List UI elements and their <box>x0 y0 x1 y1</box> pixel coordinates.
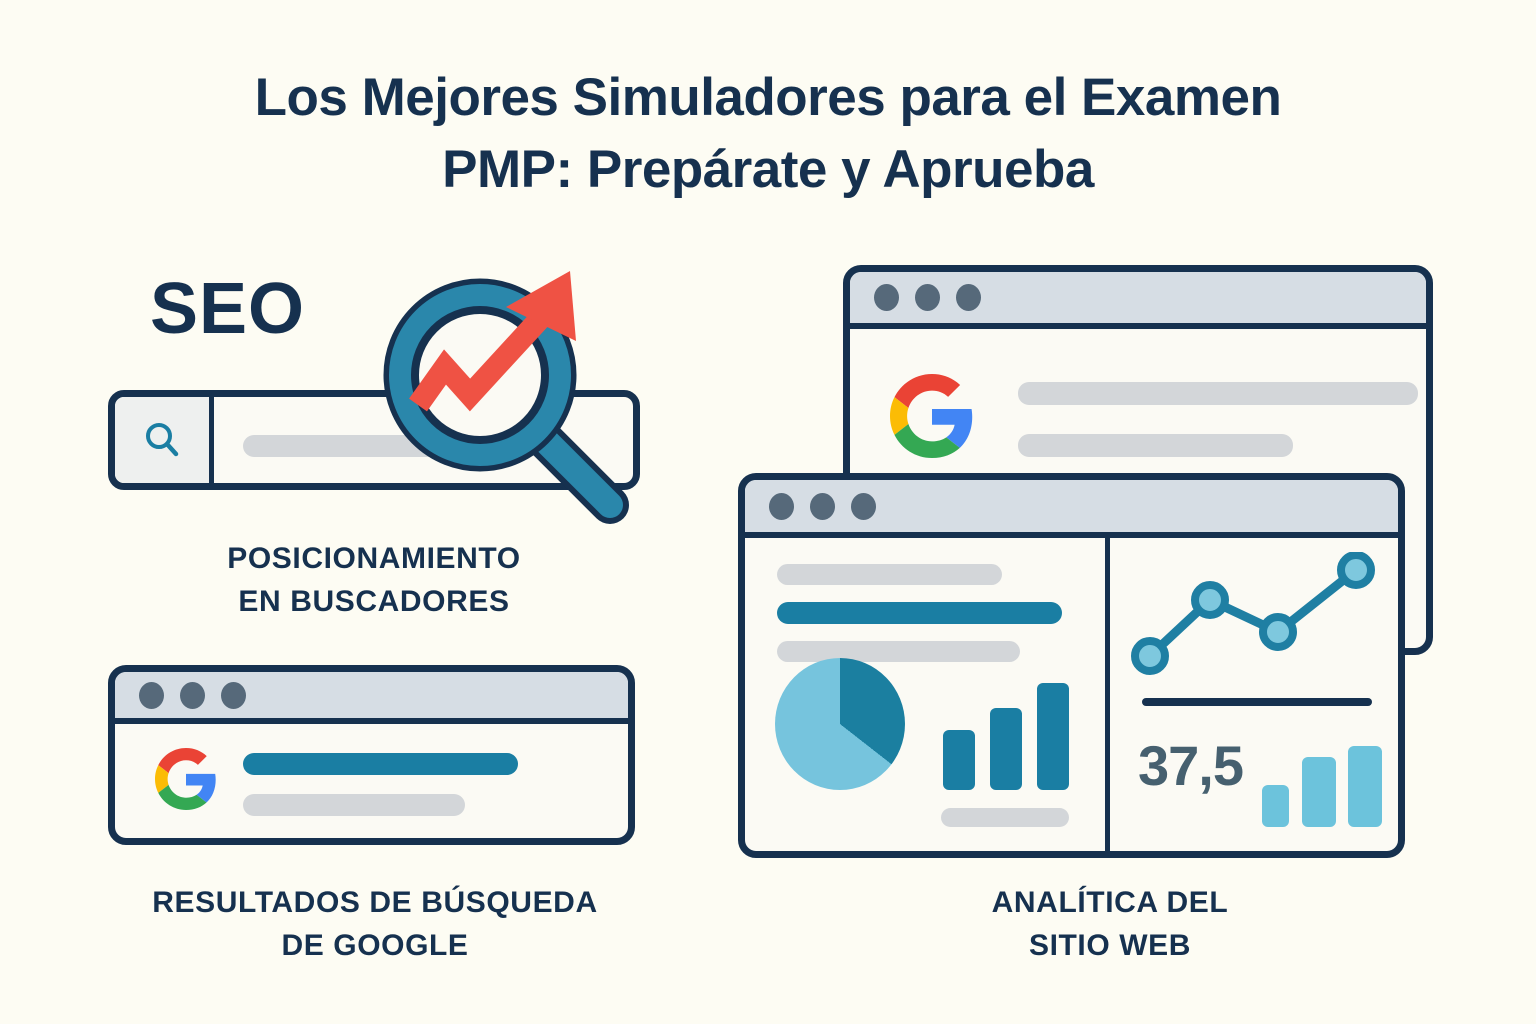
dashboard-right-pane: 37,5 <box>1110 538 1398 851</box>
analytics-caption: ANALÍTICA DEL SITIO WEB <box>840 882 1380 967</box>
search-icon <box>140 418 184 462</box>
search-icon-cell[interactable] <box>115 397 214 483</box>
result-title-bar <box>1018 382 1418 405</box>
line-chart-point-4 <box>1341 555 1371 585</box>
seo-caption: POSICIONAMIENTO EN BUSCADORES <box>108 538 640 623</box>
mini-bar-3 <box>1348 746 1382 827</box>
close-dot-icon[interactable] <box>769 493 794 520</box>
dashboard-left-pane <box>745 538 1110 851</box>
line-chart <box>1128 552 1405 682</box>
seo-caption-line-2: EN BUSCADORES <box>108 581 640 624</box>
line-chart-point-2 <box>1195 585 1225 615</box>
analytics-caption-line-2: SITIO WEB <box>840 925 1380 968</box>
google-logo-icon <box>155 748 217 810</box>
bar-chart-bar-2 <box>990 708 1022 790</box>
metric-value: 37,5 <box>1138 733 1243 798</box>
text-skeleton-2 <box>777 641 1020 662</box>
mini-bar-2 <box>1302 757 1336 827</box>
line-chart-point-3 <box>1263 617 1293 647</box>
minimize-dot-icon[interactable] <box>810 493 835 520</box>
result-snippet-bar <box>243 794 465 816</box>
pie-chart <box>775 658 905 790</box>
maximize-dot-icon[interactable] <box>956 284 981 311</box>
line-chart-point-1 <box>1135 641 1165 671</box>
title-line-1: Los Mejores Simuladores para el Examen <box>0 62 1536 134</box>
google-caption: RESULTADOS DE BÚSQUEDA DE GOOGLE <box>85 882 665 967</box>
maximize-dot-icon[interactable] <box>221 682 246 709</box>
maximize-dot-icon[interactable] <box>851 493 876 520</box>
analytics-dashboard-window[interactable]: 37,5 <box>738 473 1405 858</box>
page-title: Los Mejores Simuladores para el Examen P… <box>0 62 1536 205</box>
title-line-2: PMP: Prepárate y Aprueba <box>0 134 1536 206</box>
magnifier-growth-icon <box>360 255 650 545</box>
analytics-caption-line-1: ANALÍTICA DEL <box>840 882 1380 925</box>
minimize-dot-icon[interactable] <box>915 284 940 311</box>
window-title-bar[interactable] <box>745 480 1398 538</box>
result-snippet-bar <box>1018 434 1293 457</box>
seo-wordmark: SEO <box>150 268 305 350</box>
window-title-bar[interactable] <box>115 672 628 724</box>
dashboard-split: 37,5 <box>745 538 1398 851</box>
text-skeleton-1 <box>777 564 1002 585</box>
poster-canvas: Los Mejores Simuladores para el Examen P… <box>0 0 1536 1024</box>
magnifier-handle <box>545 440 610 505</box>
close-dot-icon[interactable] <box>874 284 899 311</box>
minimize-dot-icon[interactable] <box>180 682 205 709</box>
google-logo-icon <box>890 374 974 458</box>
google-caption-line-1: RESULTADOS DE BÚSQUEDA <box>85 882 665 925</box>
result-title-bar <box>243 753 518 775</box>
bar-chart-bar-1 <box>943 730 975 790</box>
mini-bar-1 <box>1262 785 1289 827</box>
seo-caption-line-1: POSICIONAMIENTO <box>108 538 640 581</box>
google-results-window[interactable] <box>108 665 635 845</box>
close-dot-icon[interactable] <box>139 682 164 709</box>
text-skeleton-highlight <box>777 602 1062 624</box>
google-caption-line-2: DE GOOGLE <box>85 925 665 968</box>
divider-rule <box>1142 698 1372 706</box>
bar-chart-axis-label <box>941 808 1069 827</box>
bar-chart-bar-3 <box>1037 683 1069 790</box>
window-title-bar[interactable] <box>850 272 1426 329</box>
